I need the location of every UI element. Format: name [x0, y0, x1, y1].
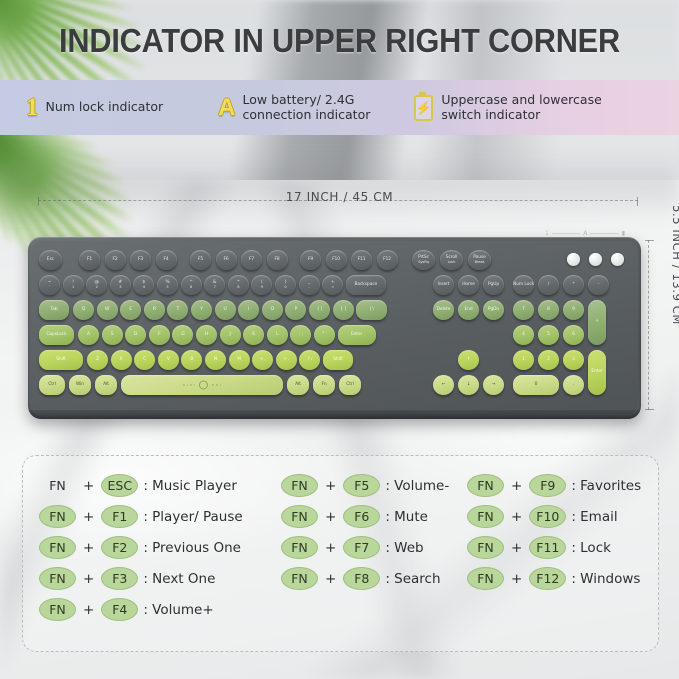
fn-shortcut-description: : Previous One — [143, 540, 241, 556]
key-label: C — [143, 358, 146, 363]
plus-sign: + — [83, 602, 94, 618]
keyboard-key: I — [238, 300, 259, 320]
fn-key-badge: F11 — [529, 536, 566, 559]
fn-modifier-badge: FN — [467, 474, 504, 497]
key-label: E — [129, 308, 132, 313]
plus-sign: + — [83, 571, 94, 587]
led-label-num: 1 — [545, 230, 549, 237]
keyboard-key: Win — [69, 375, 91, 395]
keyboard-front-edge — [28, 410, 641, 419]
key-sublabel: Break — [475, 261, 485, 265]
plus-sign: + — [511, 571, 522, 587]
fn-shortcut-description: : Volume+ — [143, 602, 213, 618]
key-label: S — [111, 333, 114, 338]
keyboard-key: End — [458, 300, 479, 320]
key-label: Alt — [103, 383, 109, 388]
key-label: F10 — [332, 258, 340, 263]
key-label: < , — [260, 358, 266, 363]
keyboard-key: %5 — [157, 275, 178, 295]
fn-key-badge: F10 — [529, 505, 566, 528]
fn-shortcut-column-3: FN+F9: FavoritesFN+F10: EmailFN+F11: Loc… — [467, 470, 662, 594]
key-label: → — [492, 383, 496, 388]
width-dimension-label: 17 INCH / 45 CM — [0, 190, 679, 204]
key-sublabel: ` — [49, 286, 51, 290]
key-sublabel: 5 — [166, 286, 168, 290]
fn-shortcut-row: FN+F11: Lock — [467, 532, 662, 563]
keyboard-key: F4 — [156, 250, 177, 270]
key-label: F9 — [308, 258, 313, 263]
key-label: O — [271, 308, 274, 313]
fn-shortcut-row: FN+F1: Player/ Pause — [39, 501, 289, 532]
fn-shortcut-column-1: FN+ESC: Music PlayerFN+F1: Player/ Pause… — [39, 470, 289, 625]
key-label: Fn — [321, 383, 326, 388]
key-sublabel: 1 — [72, 286, 74, 290]
keyboard-key: ? / — [299, 350, 320, 370]
key-sublabel: 4 — [143, 286, 145, 290]
keyboard-key: | \ — [356, 300, 387, 320]
keyboard-key: ~` — [39, 275, 60, 295]
fn-shortcut-description: : Music Player — [143, 478, 237, 494]
key-label: | \ — [370, 308, 374, 313]
keyboard-key: PgUp — [483, 275, 504, 295]
caps-a-glyph-icon: A — [218, 96, 235, 120]
plus-sign: + — [511, 509, 522, 525]
key-label: F4 — [163, 258, 168, 263]
plus-sign: + — [325, 571, 336, 587]
keyboard-key: L — [267, 325, 288, 345]
fn-shortcut-row: FN+F10: Email — [467, 501, 662, 532]
key-label: F1 — [87, 258, 92, 263]
keyboard-key: &7 — [204, 275, 225, 295]
background-shadow-strip — [0, 150, 679, 220]
key-sublabel: SysRq — [418, 261, 429, 265]
fn-key-badge: F8 — [343, 567, 380, 590]
key-label: 8 — [547, 308, 550, 313]
key-label: 0 — [535, 383, 538, 388]
key-sublabel: 7 — [214, 286, 216, 290]
key-label: Win — [76, 383, 84, 388]
indicator-line-2: switch indicator — [441, 108, 601, 123]
plus-sign: + — [83, 540, 94, 556]
key-label: F8 — [274, 258, 279, 263]
keyboard-key: G — [172, 325, 193, 345]
num-lock-glyph-icon: 1 — [26, 95, 39, 120]
fn-key-badge: F9 — [529, 474, 566, 497]
fn-shortcut-description: : Email — [571, 509, 617, 525]
key-label: Esc — [47, 258, 54, 263]
fn-shortcut-description: : Volume- — [385, 478, 449, 494]
fn-modifier-badge: FN — [281, 505, 318, 528]
key-label: ↑ — [467, 358, 471, 363]
key-label: B — [190, 358, 193, 363]
fn-shortcut-row: FN+F5: Volume- — [281, 470, 471, 501]
width-dimension-text: 17 INCH / 45 CM — [278, 190, 402, 204]
key-label: K — [252, 333, 255, 338]
keyboard-key: Y — [191, 300, 212, 320]
fn-key-badge: F5 — [343, 474, 380, 497]
keyboard-key: Shift — [39, 350, 83, 370]
keyboard-key: Backspace — [346, 275, 386, 295]
fn-shortcut-row: FN+F8: Search — [281, 563, 471, 594]
key-sublabel: 8 — [237, 286, 239, 290]
key-label: 5 — [547, 333, 550, 338]
keyboard-key: C — [134, 350, 155, 370]
keyboard-key: *8 — [228, 275, 249, 295]
keyboard-key: (9 — [251, 275, 272, 295]
fn-shortcut-column-2: FN+F5: Volume-FN+F6: MuteFN+F7: WebFN+F8… — [281, 470, 471, 594]
keyboard-key: Num Lock — [513, 275, 534, 295]
fn-key-badge: F3 — [101, 567, 138, 590]
keyboard-key: Ctrl — [339, 375, 361, 395]
key-label: 4 — [522, 333, 525, 338]
indicator-line-1: Low battery/ 2.4G — [243, 93, 371, 108]
key-label: . — [573, 383, 574, 388]
key-label: Z — [96, 358, 99, 363]
status-led — [589, 253, 602, 266]
key-label: Home — [462, 283, 475, 288]
key-label: F2 — [112, 258, 117, 263]
keyboard-key: Fn — [313, 375, 335, 395]
keyboard-key: } ] — [333, 300, 354, 320]
fn-shortcut-description: : Mute — [385, 509, 428, 525]
key-label: } ] — [340, 308, 346, 313]
key-label: / — [548, 283, 549, 288]
key-label: Delete — [437, 308, 451, 313]
keyboard-key: 9 — [563, 300, 584, 320]
keyboard-key: Tab — [39, 300, 69, 320]
key-sublabel: 2 — [96, 286, 98, 290]
keyboard-key: += — [322, 275, 343, 295]
key-label: 6 — [572, 333, 575, 338]
key-label: 2 — [547, 358, 550, 363]
key-label: F5 — [198, 258, 203, 263]
key-label: D — [134, 333, 137, 338]
fn-shortcut-description: : Windows — [571, 571, 640, 587]
keyboard-key: J — [220, 325, 241, 345]
keyboard-key: { [ — [309, 300, 330, 320]
plus-sign: + — [325, 478, 336, 494]
keyboard-key — [121, 375, 283, 395]
keyboard-key: U — [215, 300, 236, 320]
key-label: A — [87, 333, 90, 338]
keyboard-key: : ; — [290, 325, 311, 345]
key-label: Insert — [438, 283, 450, 288]
fn-shortcut-description: : Next One — [143, 571, 215, 587]
keyboard-key: 1 — [513, 350, 534, 370]
keyboard-key: Ctrl — [39, 375, 65, 395]
key-label: - — [598, 283, 599, 288]
key-sublabel: 3 — [119, 286, 121, 290]
keyboard-key: A — [78, 325, 99, 345]
keyboard-key: F7 — [241, 250, 262, 270]
key-label: Y — [200, 308, 203, 313]
fn-shortcut-row: FN+F12: Windows — [467, 563, 662, 594]
key-label: Shift — [333, 358, 342, 363]
key-label: P — [295, 308, 298, 313]
fn-key-badge: F6 — [343, 505, 380, 528]
keyboard-key: Home — [458, 275, 479, 295]
keyboard-key: ^6 — [181, 275, 202, 295]
key-sublabel: 6 — [190, 286, 192, 290]
key-label: Shift — [56, 358, 65, 363]
key-label: F12 — [383, 258, 391, 263]
key-label: { [ — [317, 308, 323, 313]
fn-shortcut-description: : Web — [385, 540, 423, 556]
keyboard-key: F6 — [216, 250, 237, 270]
keyboard-key: ↑ — [458, 350, 479, 370]
key-label: Enter — [351, 333, 362, 338]
keyboard-key: Q — [73, 300, 94, 320]
status-led — [567, 253, 580, 266]
key-label: ? / — [307, 358, 312, 363]
fn-modifier-badge: FN — [39, 598, 76, 621]
fn-shortcut-description: : Player/ Pause — [143, 509, 242, 525]
key-label: ↓ — [467, 383, 471, 388]
indicator-legend-band: 1 Num lock indicator A Low battery/ 2.4G… — [0, 80, 679, 135]
keyboard-key: D — [125, 325, 146, 345]
key-label: Alt — [295, 383, 301, 388]
keyboard-key: + — [588, 300, 606, 345]
fn-modifier-badge: FN — [39, 567, 76, 590]
plus-sign: + — [511, 540, 522, 556]
key-label: End — [464, 308, 472, 313]
key-label: Enter — [591, 370, 602, 375]
keyboard-key: Alt — [95, 375, 117, 395]
fn-shortcut-row: FN+F3: Next One — [39, 563, 289, 594]
keyboard-key: @2 — [86, 275, 107, 295]
fn-shortcuts-panel: FN+ESC: Music PlayerFN+F1: Player/ Pause… — [22, 455, 659, 652]
keyboard-key: F10 — [326, 250, 347, 270]
keyboard-key: / — [538, 275, 559, 295]
keyboard-key: S — [102, 325, 123, 345]
key-sublabel: Lock — [448, 261, 456, 265]
keyboard-key: N — [205, 350, 226, 370]
keyboard-key: F8 — [267, 250, 288, 270]
key-label: L — [276, 333, 278, 338]
keyboard-key: F2 — [105, 250, 126, 270]
keyboard-key: W — [97, 300, 118, 320]
plus-sign: + — [83, 478, 94, 494]
keyboard-key: Enter — [338, 325, 376, 345]
keyboard-key: ↓ — [458, 375, 479, 395]
fn-shortcut-row: FN+F9: Favorites — [467, 470, 662, 501]
key-label: F3 — [138, 258, 143, 263]
key-label: V — [167, 358, 170, 363]
status-led — [611, 253, 624, 266]
key-label: CapsLock — [46, 333, 66, 338]
keyboard-key: T — [167, 300, 188, 320]
keyboard-key: * — [563, 275, 584, 295]
bolt-glyph: ⚡ — [416, 102, 431, 114]
keyboard-key: R — [144, 300, 165, 320]
keyboard-key: → — [483, 375, 504, 395]
fn-modifier-badge: FN — [281, 567, 318, 590]
key-label: + — [595, 320, 599, 325]
fn-key-badge: F12 — [529, 567, 566, 590]
fn-modifier-badge: FN — [39, 505, 76, 528]
keyboard-key: B — [181, 350, 202, 370]
key-label: Tab — [50, 308, 57, 313]
fn-shortcut-description: : Favorites — [571, 478, 641, 494]
indicator-label-case-switch: Uppercase and lowercase switch indicator — [441, 93, 601, 123]
keyboard-key: 8 — [538, 300, 559, 320]
keyboard-key: )0 — [275, 275, 296, 295]
indicator-label-num-lock: Num lock indicator — [46, 100, 164, 115]
key-label: Q — [82, 308, 85, 313]
keyboard-key: 6 — [563, 325, 584, 345]
fn-modifier-badge: FN — [281, 536, 318, 559]
keyboard-key: P — [285, 300, 306, 320]
keyboard-key: X — [111, 350, 132, 370]
keyboard-key: F9 — [300, 250, 321, 270]
fn-key-badge: ESC — [101, 474, 138, 497]
fn-key-badge: F7 — [343, 536, 380, 559]
keyboard-key: F5 — [190, 250, 211, 270]
fn-modifier-badge: FN — [39, 536, 76, 559]
key-label: H — [205, 333, 208, 338]
fn-modifier-badge: FN — [281, 474, 318, 497]
keyboard-key: " ' — [314, 325, 335, 345]
keyboard-key: V — [158, 350, 179, 370]
keyboard-key: #3 — [110, 275, 131, 295]
keyboard-key: > . — [276, 350, 297, 370]
keyboard-key: H — [196, 325, 217, 345]
keyboard-key: F12 — [377, 250, 398, 270]
fn-key-badge: F1 — [101, 505, 138, 528]
key-label: > . — [283, 358, 289, 363]
key-label: X — [120, 358, 123, 363]
key-label: PgUp — [488, 283, 499, 288]
fn-modifier-badge: FN — [467, 536, 504, 559]
keyboard-key: PgDn — [483, 300, 504, 320]
key-label: F7 — [249, 258, 254, 263]
keyboard-key: CapsLock — [39, 325, 74, 345]
keyboard-key: PrtScSysRq — [412, 250, 435, 270]
fn-modifier-badge: FN — [467, 567, 504, 590]
keyboard-key: Enter — [588, 350, 606, 395]
keyboard-key: M — [229, 350, 250, 370]
keyboard-key: Delete — [433, 300, 454, 320]
key-label: Ctrl — [48, 383, 55, 388]
keyboard-key: Esc — [39, 250, 62, 270]
key-label: 9 — [572, 308, 575, 313]
key-label: * — [572, 283, 574, 288]
plus-sign: + — [83, 509, 94, 525]
keyboard-key: $4 — [133, 275, 154, 295]
key-label: " ' — [322, 333, 326, 338]
fn-shortcut-row: FN+F7: Web — [281, 532, 471, 563]
indicator-label-low-battery: Low battery/ 2.4G connection indicator — [243, 93, 371, 123]
key-label: R — [153, 308, 156, 313]
keyboard-key: K — [243, 325, 264, 345]
key-label: ← — [442, 383, 446, 388]
plus-sign: + — [325, 540, 336, 556]
indicator-item-low-battery: A Low battery/ 2.4G connection indicator — [218, 93, 370, 123]
keyboard-key: . — [563, 375, 584, 395]
fn-shortcut-row: FN+F2: Previous One — [39, 532, 289, 563]
key-label: W — [105, 308, 109, 313]
key-label: I — [248, 308, 249, 313]
fn-shortcut-description: : Lock — [571, 540, 611, 556]
key-sublabel: - — [308, 286, 309, 290]
fn-shortcut-description: : Search — [385, 571, 440, 587]
battery-bolt-icon: ⚡ — [414, 95, 433, 121]
indicator-line-2: connection indicator — [243, 108, 371, 123]
key-label: M — [237, 358, 241, 363]
keyboard-key: O — [262, 300, 283, 320]
keyboard-key: _- — [299, 275, 320, 295]
height-dimension-label: 5.5 INCH / 13.9 CM — [670, 200, 679, 330]
keyboard-key: 4 — [513, 325, 534, 345]
keyboard-key: 0 — [513, 375, 559, 395]
keyboard-key: 5 — [538, 325, 559, 345]
keyboard-key: F1 — [79, 250, 100, 270]
key-label: 1 — [522, 358, 525, 363]
infographic-page: INDICATOR IN UPPER RIGHT CORNER 1 Num lo… — [0, 0, 679, 679]
keyboard-key: 2 — [538, 350, 559, 370]
led-label-caps: A — [583, 230, 587, 237]
key-label: T — [177, 308, 180, 313]
keyboard-key: Z — [87, 350, 108, 370]
key-label: PgDn — [488, 308, 499, 313]
fn-key-badge: F2 — [101, 536, 138, 559]
key-label: N — [214, 358, 217, 363]
key-sublabel: 0 — [284, 286, 286, 290]
key-label: F — [158, 333, 160, 338]
keyboard-key: - — [588, 275, 609, 295]
key-label: J — [229, 333, 230, 338]
key-label: G — [181, 333, 184, 338]
key-label: Num Lock — [513, 283, 534, 288]
key-label: : ; — [299, 333, 303, 338]
indicator-item-case-switch: ⚡ Uppercase and lowercase switch indicat… — [414, 93, 601, 123]
key-sublabel: = — [331, 286, 334, 290]
keyboard-product-image: EscF1F2F3F4F5F6F7F8F9F10F11F12PrtScSysRq… — [28, 237, 641, 419]
page-title: INDICATOR IN UPPER RIGHT CORNER — [24, 22, 655, 60]
fn-modifier-badge: FN — [467, 505, 504, 528]
keyboard-key: PauseBreak — [468, 250, 491, 270]
indicator-item-num-lock: 1 Num lock indicator — [26, 95, 163, 120]
key-label: F6 — [223, 258, 228, 263]
indicator-line-1: Num lock indicator — [46, 100, 164, 115]
keyboard-face: EscF1F2F3F4F5F6F7F8F9F10F11F12PrtScSysRq… — [31, 241, 638, 414]
fn-shortcut-row: FN+ESC: Music Player — [39, 470, 289, 501]
keyboard-key: Insert — [433, 275, 454, 295]
height-dimension-line — [648, 240, 650, 410]
key-sublabel: 9 — [261, 286, 263, 290]
keyboard-key: 3 — [563, 350, 584, 370]
key-label: F11 — [358, 258, 366, 263]
led-label-battery: ▮ — [622, 230, 625, 237]
key-label: Ctrl — [346, 383, 353, 388]
key-label: U — [224, 308, 227, 313]
keyboard-key: ScrollLock — [440, 250, 463, 270]
keyboard-key: 7 — [513, 300, 534, 320]
keyboard-key: F3 — [130, 250, 151, 270]
keyboard-key: E — [120, 300, 141, 320]
indicator-line-1: Uppercase and lowercase — [441, 93, 601, 108]
keyboard-key: Shift — [323, 350, 353, 370]
keyboard-key: !1 — [63, 275, 84, 295]
fn-shortcut-row: FN+F6: Mute — [281, 501, 471, 532]
keyboard-key: F11 — [351, 250, 372, 270]
key-label: Backspace — [354, 283, 377, 288]
fn-shortcut-row: FN+F4: Volume+ — [39, 594, 289, 625]
keyboard-key: ← — [433, 375, 454, 395]
plus-sign: + — [511, 478, 522, 494]
space-bar-logo — [183, 381, 221, 390]
fn-modifier-badge: FN — [39, 474, 76, 497]
